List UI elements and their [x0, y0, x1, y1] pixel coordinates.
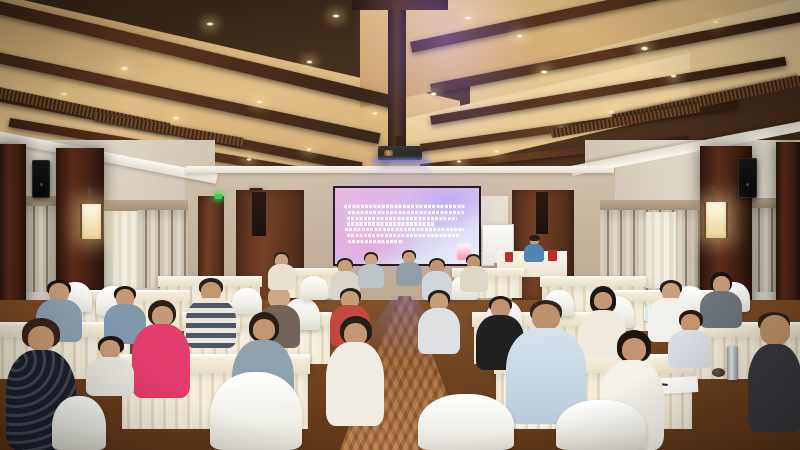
torso [396, 262, 422, 286]
list-item [668, 310, 712, 368]
torso [186, 298, 236, 348]
head [152, 306, 173, 326]
presenter [524, 236, 544, 262]
list-item [748, 312, 800, 432]
list-item [396, 250, 422, 286]
head [253, 319, 275, 340]
window-panel-left [104, 210, 138, 290]
window-panel-right [646, 212, 676, 288]
list-item [268, 252, 296, 290]
slide-text-block [344, 205, 470, 243]
presenter-torso [524, 244, 544, 262]
torso [326, 342, 384, 426]
torso [132, 324, 190, 398]
chair[interactable] [300, 276, 328, 300]
torso [748, 344, 800, 432]
torso [86, 357, 134, 396]
chair[interactable] [418, 394, 514, 450]
torso [668, 330, 712, 368]
torso [460, 266, 488, 292]
presenter-hair [529, 235, 540, 241]
list-item [132, 300, 190, 398]
speaker-left [32, 160, 50, 198]
head [594, 292, 612, 309]
chair[interactable] [556, 400, 646, 450]
head [622, 338, 646, 361]
torso [268, 264, 296, 290]
torso [418, 308, 460, 354]
door-inset-panel [252, 192, 266, 236]
thermos[interactable] [727, 346, 738, 380]
torso [358, 264, 384, 288]
head [28, 326, 54, 351]
red-chair-b[interactable] [548, 250, 557, 261]
sconce-left [80, 204, 103, 239]
head [760, 315, 790, 345]
red-chair-a[interactable] [505, 252, 513, 262]
column-right-outer [776, 142, 800, 314]
head [532, 304, 560, 330]
conference-room-photo: Slide with white Chinese body text [0, 0, 800, 450]
list-item [460, 254, 488, 292]
column-left-outer [0, 144, 26, 314]
list-item [186, 278, 236, 348]
chair[interactable] [52, 396, 106, 450]
tea-cup[interactable] [712, 368, 725, 377]
speaker-right [738, 158, 757, 198]
projector-lens-icon [384, 150, 393, 156]
sconce-right [704, 202, 728, 238]
chair[interactable] [210, 372, 302, 450]
list-item [358, 252, 384, 288]
list-item [326, 316, 384, 426]
exit-sign-icon [215, 194, 222, 199]
door-inset-panel-right [536, 192, 548, 234]
list-item [418, 290, 460, 354]
list-item [86, 336, 134, 396]
